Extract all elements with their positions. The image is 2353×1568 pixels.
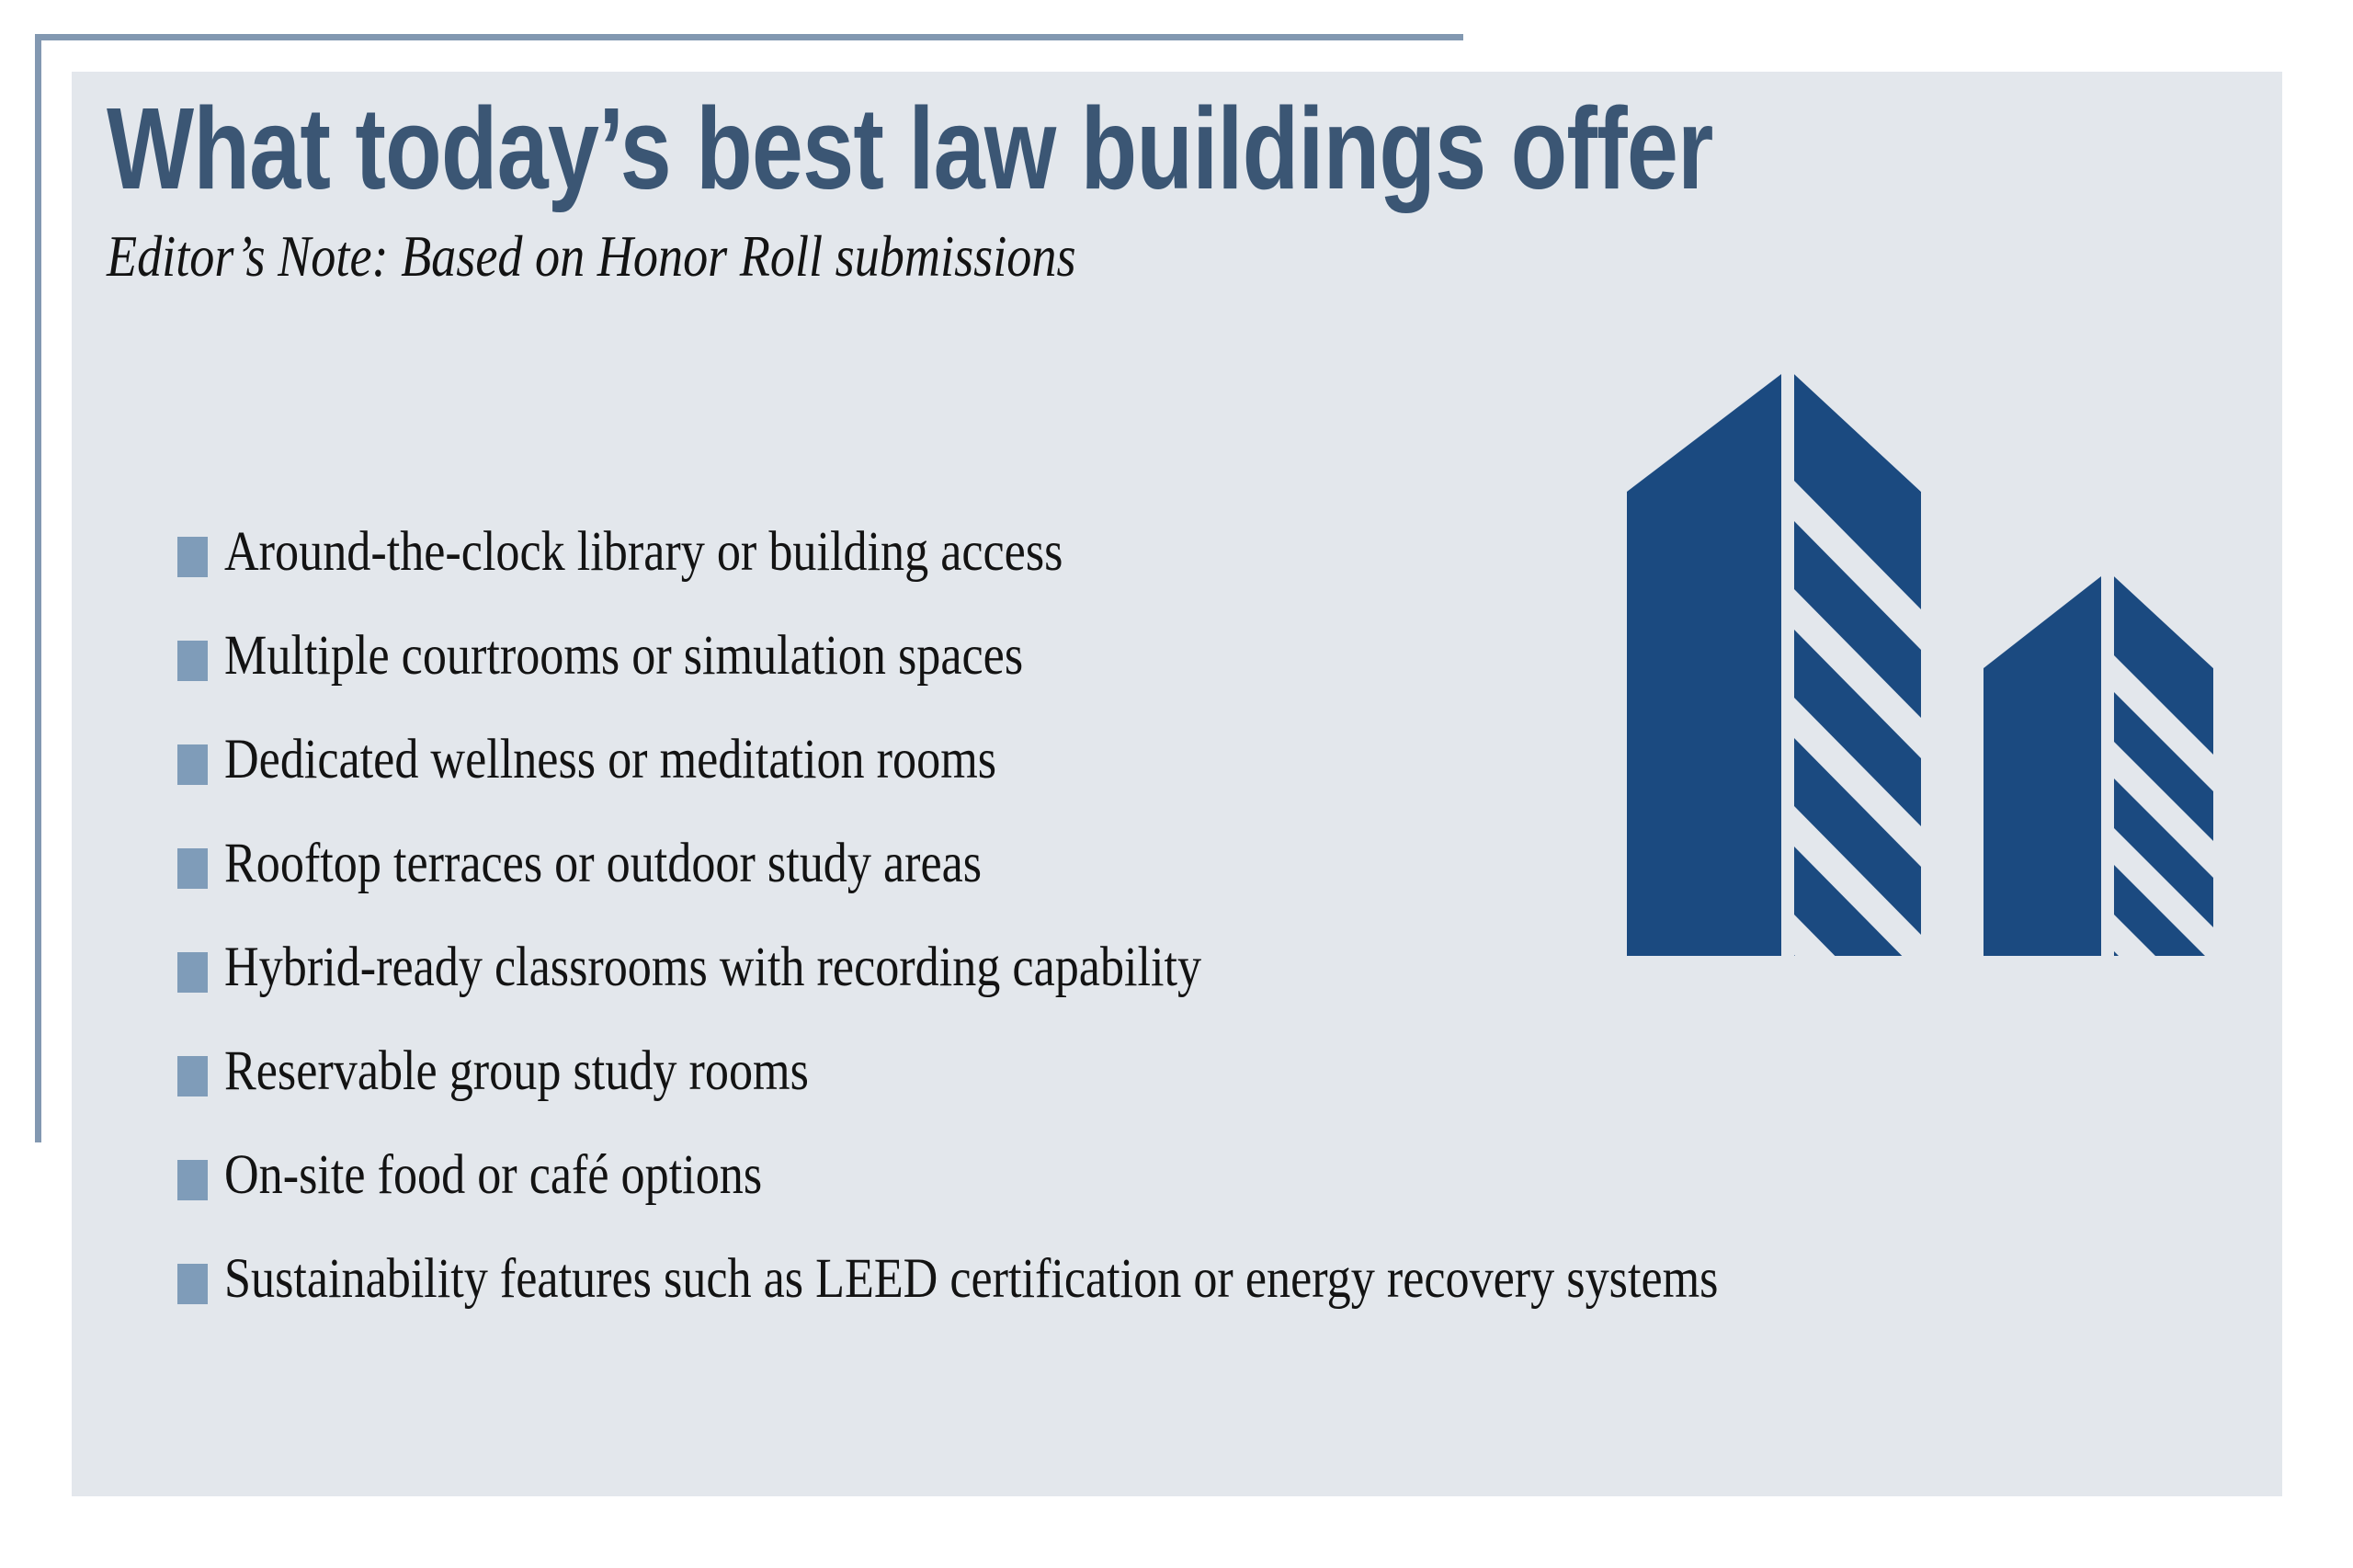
square-bullet-icon — [177, 1056, 208, 1096]
list-item-label: Around-the-clock library or building acc… — [224, 522, 1063, 580]
short-tower-solid-face — [1984, 576, 2101, 956]
square-bullet-icon — [177, 1160, 208, 1200]
list-item-label: Dedicated wellness or meditation rooms — [224, 730, 996, 788]
square-bullet-icon — [177, 848, 208, 889]
page-title: What today’s best law buildings offer — [107, 90, 1710, 209]
list-item-label: Hybrid-ready classrooms with recording c… — [224, 937, 1201, 995]
list-item: On-site food or café options — [177, 1145, 2264, 1249]
headline-block: What today’s best law buildings offer Ed… — [107, 90, 2110, 289]
frame-left-rule — [35, 34, 41, 1142]
square-bullet-icon — [177, 641, 208, 681]
list-item-label: On-site food or café options — [224, 1145, 762, 1203]
list-item-label: Reservable group study rooms — [224, 1041, 809, 1099]
list-item: Sustainability features such as LEED cer… — [177, 1249, 2264, 1353]
tall-tower-solid-face — [1627, 374, 1781, 956]
list-item-label: Rooftop terraces or outdoor study areas — [224, 834, 982, 892]
short-tower-striped-face — [2114, 576, 2213, 988]
square-bullet-icon — [177, 1264, 208, 1304]
square-bullet-icon — [177, 537, 208, 577]
list-item-label: Multiple courtrooms or simulation spaces — [224, 626, 1023, 684]
frame-top-rule — [35, 34, 1463, 40]
two-skyscrapers-icon — [1618, 363, 2224, 988]
list-item: Reservable group study rooms — [177, 1041, 2264, 1145]
list-item-label: Sustainability features such as LEED cer… — [224, 1249, 1718, 1307]
tall-tower-striped-face — [1794, 374, 1921, 988]
square-bullet-icon — [177, 952, 208, 993]
square-bullet-icon — [177, 744, 208, 785]
editors-note-subtitle: Editor’s Note: Based on Honor Roll submi… — [107, 225, 1830, 289]
